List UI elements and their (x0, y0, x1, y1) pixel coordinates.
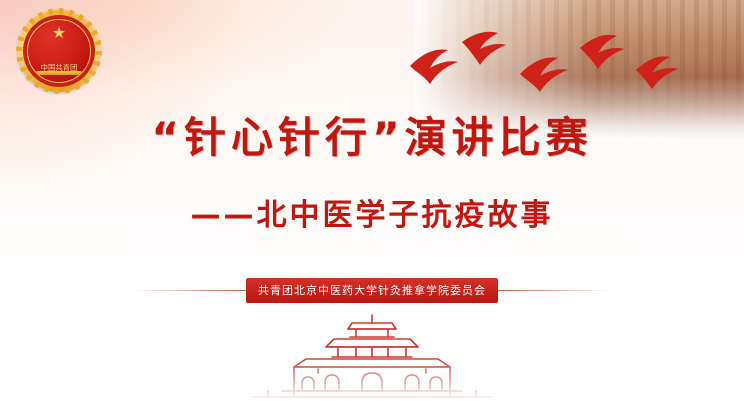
tiananmen-gate-outline-icon (222, 313, 522, 399)
star-icon: ★ (52, 26, 66, 42)
organization-label: 共青团北京中医药大学针灸推拿学院委员会 (246, 278, 498, 303)
divider-line-right (498, 290, 610, 291)
communist-youth-league-emblem-icon: ★ 中国共青团 (18, 10, 100, 92)
page-subtitle: ——北中医学子抗疫故事 (0, 196, 744, 236)
page-title: “针心针行”演讲比赛 (0, 112, 744, 164)
organization-band: 共青团北京中医药大学针灸推拿学院委员会 (0, 278, 744, 303)
presentation-slide: ★ 中国共青团 “针心针行”演讲比赛 ——北中医学子抗疫故事 共青团北京中医药大… (0, 0, 744, 417)
divider-line-left (134, 290, 246, 291)
emblem-band (36, 71, 82, 75)
peace-doves-icon (400, 22, 700, 114)
